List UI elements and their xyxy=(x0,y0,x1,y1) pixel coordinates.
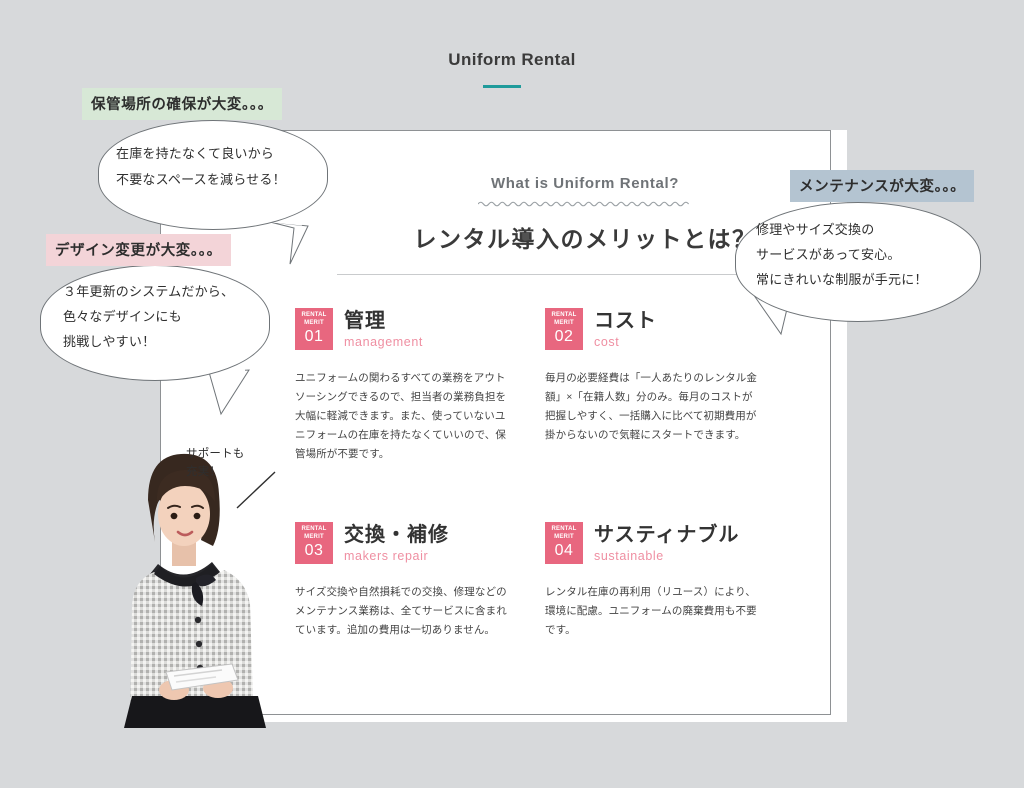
bubble-tail-design-icon xyxy=(205,368,265,418)
merit-grid: RENTAL MERIT 01 管理 management ユニフォームの関わる… xyxy=(295,308,800,640)
merit-body: サイズ交換や自然損耗での交換、修理などのメンテナンス業務は、全てサービスに含まれ… xyxy=(295,583,507,640)
merit-title-en: sustainable xyxy=(594,549,739,563)
merit-body: ユニフォームの関わるすべての業務をアウトソーシングできるので、担当者の業務負担を… xyxy=(295,369,507,464)
poster-canvas: Uniform Rental What is Uniform Rental? レ… xyxy=(0,0,1024,788)
bubble-maintenance-tag: メンテナンスが大変。。。 xyxy=(790,170,974,202)
badge-label-2: MERIT xyxy=(545,534,583,542)
badge-label-1: RENTAL xyxy=(295,526,333,534)
bubble-maintenance: 修理やサイズ交換の サービスがあって安心。 常にきれいな制服が手元に！ xyxy=(735,202,981,322)
badge-label-2: MERIT xyxy=(295,534,333,542)
bubble-line: 色々なデザインにも xyxy=(63,304,234,329)
merit-title-en: cost xyxy=(594,335,657,349)
bubble-storage-text: 在庫を持たなくて良いから 不要なスペースを減らせる！ xyxy=(116,141,286,193)
bubble-maintenance-text: 修理やサイズ交換の サービスがあって安心。 常にきれいな制服が手元に！ xyxy=(756,217,928,292)
merit-badge: RENTAL MERIT 03 xyxy=(295,522,333,564)
merit-titles: コスト cost xyxy=(594,308,657,349)
merit-item-04: RENTAL MERIT 04 サスティナブル sustainable レンタル… xyxy=(545,522,800,640)
bubble-design-text: ３年更新のシステムだから、 色々なデザインにも 挑戦しやすい！ xyxy=(63,279,234,354)
badge-number: 04 xyxy=(545,541,583,560)
bubble-line: 在庫を持たなくて良いから xyxy=(116,141,286,167)
bubble-line: 不要なスペースを減らせる！ xyxy=(116,167,286,193)
merit-titles: 交換・補修 makers repair xyxy=(344,522,449,563)
merit-badge: RENTAL MERIT 01 xyxy=(295,308,333,350)
bubble-storage-tag: 保管場所の確保が大変。。。 xyxy=(82,88,282,120)
merit-header: RENTAL MERIT 03 交換・補修 makers repair xyxy=(295,522,545,564)
bubble-line: サービスがあって安心。 xyxy=(756,242,928,267)
merit-body: 毎月の必要経費は「一人あたりのレンタル金額」×「在籍人数」分のみ。毎月のコストが… xyxy=(545,369,757,445)
merit-badge: RENTAL MERIT 02 xyxy=(545,308,583,350)
merit-item-01: RENTAL MERIT 01 管理 management ユニフォームの関わる… xyxy=(295,308,545,464)
badge-label-1: RENTAL xyxy=(545,312,583,320)
badge-label-2: MERIT xyxy=(295,320,333,328)
merit-header: RENTAL MERIT 01 管理 management xyxy=(295,308,545,350)
bubble-line: 挑戦しやすい！ xyxy=(63,329,234,354)
merit-titles: サスティナブル sustainable xyxy=(594,522,739,563)
card-eyebrow: What is Uniform Rental? xyxy=(405,175,765,192)
title-underline xyxy=(483,85,521,88)
merit-title-ja: 交換・補修 xyxy=(344,523,449,547)
bubble-tail-storage-icon xyxy=(268,218,328,266)
support-pointer-line-icon xyxy=(233,470,277,512)
badge-number: 02 xyxy=(545,327,583,346)
badge-number: 01 xyxy=(295,327,333,346)
merit-title-en: management xyxy=(344,335,423,349)
merit-title-ja: コスト xyxy=(594,309,657,333)
bubble-design-tag: デザイン変更が大変。。。 xyxy=(46,234,231,266)
merit-title-en: makers repair xyxy=(344,549,449,563)
bubble-design: ３年更新のシステムだから、 色々なデザインにも 挑戦しやすい！ xyxy=(40,265,270,381)
merit-item-03: RENTAL MERIT 03 交換・補修 makers repair サイズ交… xyxy=(295,522,545,640)
badge-number: 03 xyxy=(295,541,333,560)
badge-label-1: RENTAL xyxy=(295,312,333,320)
merit-badge: RENTAL MERIT 04 xyxy=(545,522,583,564)
bubble-storage: 在庫を持たなくて良いから 不要なスペースを減らせる！ xyxy=(98,120,328,230)
merit-title-ja: サスティナブル xyxy=(594,523,739,547)
bubble-line: ３年更新のシステムだから、 xyxy=(63,279,234,304)
bubble-line: 修理やサイズ交換の xyxy=(756,217,928,242)
bubble-line: 常にきれいな制服が手元に！ xyxy=(756,267,928,292)
merit-title-ja: 管理 xyxy=(344,309,423,333)
merit-body: レンタル在庫の再利用（リユース）により、環境に配慮。ユニフォームの廃棄費用も不要… xyxy=(545,583,757,640)
merit-header: RENTAL MERIT 04 サスティナブル sustainable xyxy=(545,522,800,564)
page-title: Uniform Rental xyxy=(0,50,1024,70)
support-note-line1: サポートも xyxy=(186,445,245,463)
merit-titles: 管理 management xyxy=(344,308,423,349)
badge-label-2: MERIT xyxy=(545,320,583,328)
badge-label-1: RENTAL xyxy=(545,526,583,534)
wavy-underline-icon xyxy=(478,200,693,208)
